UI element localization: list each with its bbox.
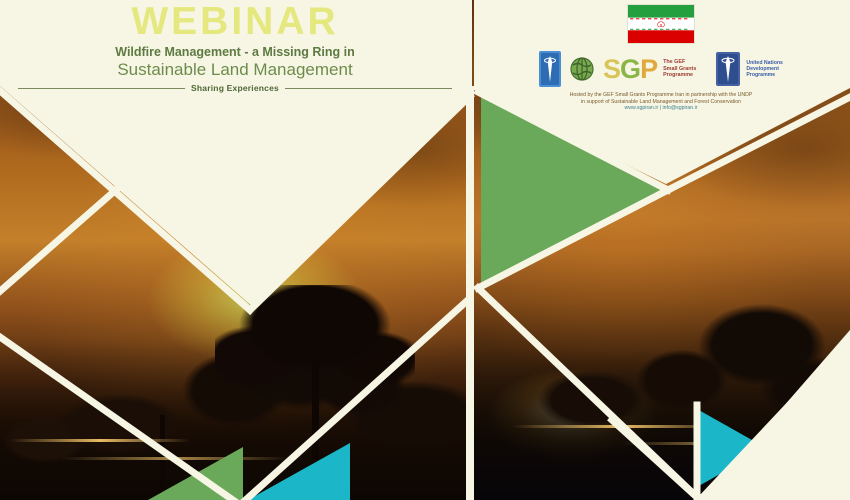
rule-right	[285, 88, 452, 89]
undp-secondary-wordmark: United Nations Development Programme	[746, 60, 783, 78]
webinar-poster: WEBINAR Wildfire Management - a Missing …	[0, 0, 850, 500]
undp-word-line-3: Programme	[746, 72, 783, 78]
tree-canopy-right	[472, 250, 850, 500]
tagline-text: Sharing Experiences	[191, 83, 279, 93]
sgp-letter-s: S	[603, 54, 620, 84]
disclaimer-line-1: Hosted by the GEF Small Grants Programme…	[482, 92, 840, 99]
ember-glow-line-right-2	[622, 442, 822, 445]
ember-glow-line	[10, 439, 190, 442]
title-block: WEBINAR Wildfire Management - a Missing …	[0, 2, 470, 93]
disclaimer-link-line: www.sgpiran.ir | info@sgpiran.ir	[482, 105, 840, 112]
undp-logo-icon	[539, 51, 561, 87]
tree-trunk	[312, 360, 319, 500]
logo-row: SGP The GEF Small Grants Programme Unite…	[472, 49, 850, 89]
ember-glow-line-2	[60, 457, 290, 460]
subtitle-line-2: Sustainable Land Management	[0, 60, 470, 80]
sgp-subtitle: The GEF Small Grants Programme	[663, 59, 696, 78]
gef-globe-icon	[567, 54, 597, 84]
logo-block: SGP The GEF Small Grants Programme Unite…	[472, 0, 850, 112]
ember-glow-line-right	[512, 425, 732, 428]
sgp-subtitle-line-3: Programme	[663, 72, 696, 78]
subtitle-line-1: Wildfire Management - a Missing Ring in	[0, 44, 470, 60]
disclaimer-block: Hosted by the GEF Small Grants Programme…	[482, 92, 840, 112]
iran-flag-icon	[627, 4, 695, 44]
header-band: WEBINAR Wildfire Management - a Missing …	[0, 0, 850, 112]
sgp-wordmark: SGP	[603, 56, 657, 83]
sgp-letter-p: P	[640, 54, 657, 84]
rule-left	[18, 88, 185, 89]
disclaimer-line-2: in support of Sustainable Land Managemen…	[482, 99, 840, 106]
sgp-letter-g: G	[620, 54, 640, 84]
page-title-webinar: WEBINAR	[0, 2, 470, 42]
undp-secondary-logo-icon	[716, 52, 740, 86]
tagline-row: Sharing Experiences	[18, 83, 452, 93]
